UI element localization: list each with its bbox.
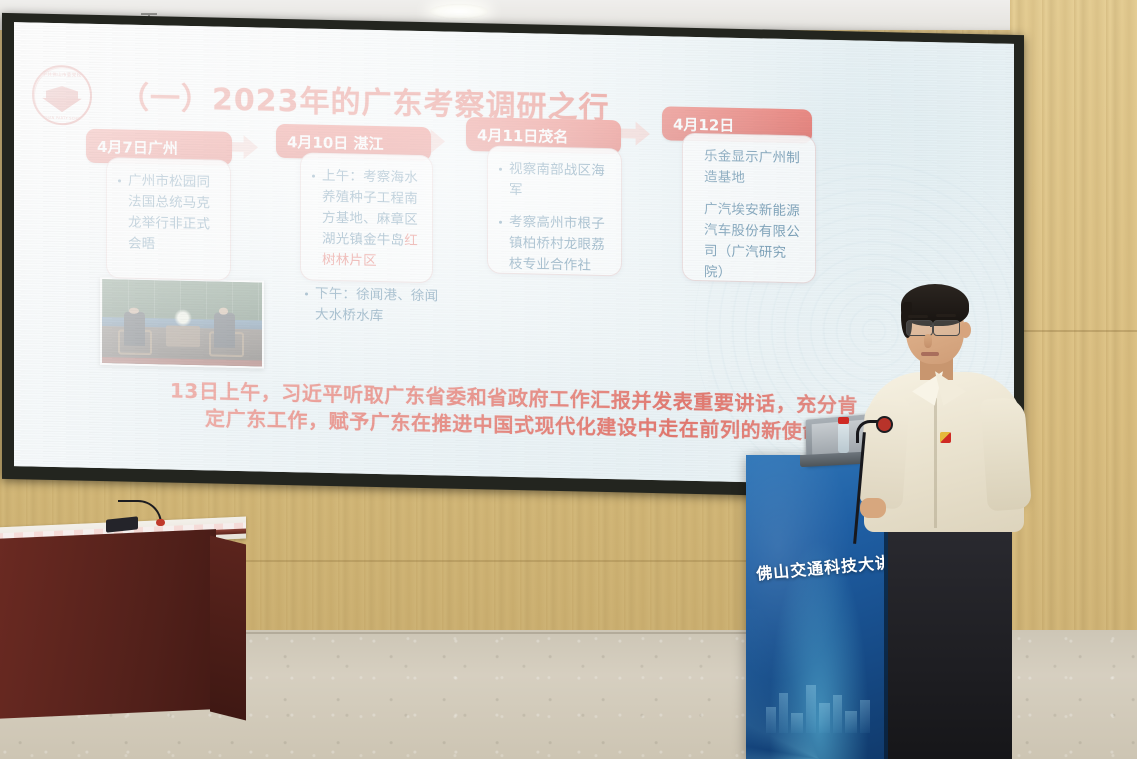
- ceiling-light-2: [430, 4, 488, 19]
- water-bottle-cap: [838, 417, 849, 424]
- timeline-body-2: 上午：考察海水养殖种子工程南方基地、麻章区湖光镇金牛岛红树林片区: [300, 152, 433, 283]
- presenter-mouth: [921, 352, 939, 356]
- timeline-item: 考察高州市根子镇柏桥村龙眼荔枝专业合作社: [498, 212, 611, 277]
- seal-top-text: 中共佛山市委党校: [34, 72, 90, 79]
- timeline-item: 广州市松园同法国总统马克龙举行非正式会晤: [117, 170, 220, 256]
- presenter-lower-body: [888, 524, 1012, 759]
- skyline-block: [819, 703, 830, 733]
- timeline-body-1: 广州市松园同法国总统马克龙举行非正式会晤: [106, 157, 231, 281]
- timeline-header-2-label: 4月10日 湛江: [287, 131, 384, 154]
- timeline-header-3-label: 4月11日茂名: [477, 124, 568, 147]
- timeline-item: 上午：考察海水养殖种子工程南方基地、麻章区湖光镇金牛岛红树林片区: [311, 166, 422, 273]
- skyline-block: [779, 693, 788, 733]
- photo-tea-table: [166, 326, 200, 347]
- presenter-right-arm: [980, 397, 1032, 512]
- front-desk-side-panel: [210, 536, 246, 721]
- party-school-seal-logo: 中共佛山市委党校 FOSHAN PARTY SCHOOL: [32, 65, 92, 126]
- timeline-item: 视察南部战区海军: [498, 159, 611, 203]
- skyline-block: [845, 711, 857, 733]
- conference-hall-scene: 中共佛山市委党校 FOSHAN PARTY SCHOOL （一）2023年的广东…: [0, 0, 1137, 759]
- water-bottle: [838, 423, 849, 453]
- presenter-shirt-placket: [934, 398, 937, 528]
- skyline-block: [791, 713, 803, 733]
- presenter-nose: [924, 334, 932, 348]
- seal-bottom-text: FOSHAN PARTY SCHOOL: [34, 116, 90, 121]
- timeline-body-3: 视察南部战区海军 考察高州市根子镇柏桥村龙眼荔枝专业合作社: [487, 145, 622, 276]
- timeline-body-4: 乐金显示广州制造基地 广汽埃安新能源汽车股份有限公司（广汽研究院）: [682, 133, 816, 284]
- desk-microphone-head: [156, 519, 165, 526]
- meeting-photo: [100, 277, 264, 369]
- skyline-block: [766, 707, 776, 733]
- presenter-ear: [960, 322, 971, 338]
- photo-person-right-head: [219, 308, 229, 315]
- skyline-block: [833, 695, 842, 733]
- front-desk-front-panel: [0, 529, 216, 719]
- eyeglasses-right-lens: [933, 320, 960, 336]
- presenter-left-arm: [858, 397, 910, 510]
- timeline-item: 乐金显示广州制造基地: [693, 146, 805, 190]
- party-emblem-badge: [940, 432, 951, 443]
- podium-microphone-head: [876, 416, 893, 433]
- timeline-header-4-label: 4月12日: [673, 113, 734, 135]
- timeline-item: 下午：徐闻港、徐闻大水桥水库: [304, 283, 444, 328]
- photo-person-left: [124, 311, 145, 345]
- timeline-item: 广汽埃安新能源汽车股份有限公司（广汽研究院）: [693, 199, 805, 285]
- podium-skyline-graphic: [764, 675, 874, 733]
- timeline-header-1-label: 4月7日广州: [97, 135, 178, 158]
- eyeglasses-bridge: [930, 325, 934, 327]
- presenter: [860, 280, 1070, 759]
- presenter-hand: [860, 498, 886, 518]
- photo-flower-arrangement: [174, 308, 192, 327]
- photo-person-right: [214, 313, 235, 348]
- presenter-brow-right: [936, 314, 956, 317]
- timeline-extra-2: 下午：徐闻港、徐闻大水桥水库: [304, 283, 444, 328]
- presenter-brow-left: [908, 315, 928, 318]
- skyline-block: [806, 685, 816, 733]
